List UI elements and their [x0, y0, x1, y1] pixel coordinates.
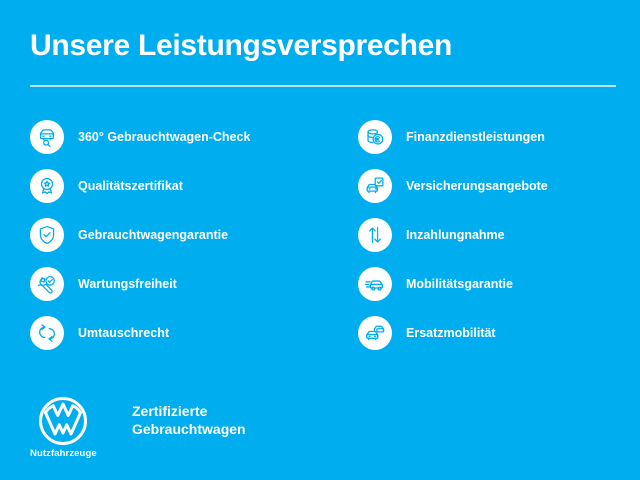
- feature-label: Gebrauchtwagengarantie: [78, 228, 228, 242]
- feature-item-wartungsfreiheit: Wartungsfreiheit: [30, 267, 330, 301]
- shield-check-icon: [30, 218, 64, 252]
- exchange-arrows-icon: [30, 316, 64, 350]
- feature-item-gebrauchtwagengarantie: Gebrauchtwagengarantie: [30, 218, 330, 252]
- feature-label: Inzahlungnahme: [406, 228, 505, 242]
- feature-label: Umtauschrecht: [78, 326, 169, 340]
- feature-label: Ersatzmobilität: [406, 326, 496, 340]
- feature-item-mobilitaetsgarantie: Mobilitätsgarantie: [358, 267, 628, 301]
- car-document-icon: [358, 169, 392, 203]
- feature-item-qualitaetszertifikat: Qualitätszertifikat: [30, 169, 330, 203]
- brand-logo-block: Nutzfahrzeuge: [30, 396, 96, 459]
- feature-label: Qualitätszertifikat: [78, 179, 183, 193]
- feature-label: Versicherungsangebote: [406, 179, 548, 193]
- vw-logo: [38, 396, 88, 446]
- feature-item-gebrauchtwagen-check: 360° Gebrauchtwagen-Check: [30, 120, 330, 154]
- wrench-check-icon: [30, 267, 64, 301]
- feature-item-inzahlungnahme: Inzahlungnahme: [358, 218, 628, 252]
- feature-label: 360° Gebrauchtwagen-Check: [78, 130, 250, 144]
- van-speed-icon: [358, 267, 392, 301]
- page-title: Unsere Leistungsversprechen: [30, 28, 616, 64]
- header: Unsere Leistungsversprechen: [30, 28, 616, 64]
- feature-item-versicherungsangebote: Versicherungsangebote: [358, 169, 628, 203]
- footer-text-line2: Gebrauchtwagen: [132, 420, 246, 438]
- header-divider: [30, 85, 616, 87]
- car-check-icon: [30, 120, 64, 154]
- up-down-arrows-icon: [358, 218, 392, 252]
- feature-label: Finanzdienstleistungen: [406, 130, 545, 144]
- feature-item-ersatzmobilitaet: Ersatzmobilität: [358, 316, 628, 350]
- footer-text: Zertifizierte Gebrauchtwagen: [132, 402, 246, 438]
- footer-text-line1: Zertifizierte: [132, 402, 246, 420]
- feature-item-umtauschrecht: Umtauschrecht: [30, 316, 330, 350]
- footer: Nutzfahrzeuge Zertifizierte Gebrauchtwag…: [30, 396, 246, 459]
- feature-label: Mobilitätsgarantie: [406, 277, 513, 291]
- feature-item-finanzdienstleistungen: Finanzdienstleistungen: [358, 120, 628, 154]
- feature-column-right: Finanzdienstleistungen Versicherungsange…: [358, 120, 628, 365]
- quality-seal-icon: [30, 169, 64, 203]
- slide-root: Unsere Leistungsversprechen 360° Gebrauc…: [0, 0, 640, 480]
- feature-label: Wartungsfreiheit: [78, 277, 177, 291]
- coins-euro-icon: [358, 120, 392, 154]
- brand-logo-subtitle: Nutzfahrzeuge: [30, 448, 96, 459]
- two-cars-icon: [358, 316, 392, 350]
- feature-column-left: 360° Gebrauchtwagen-Check Qualitätszerti…: [30, 120, 330, 365]
